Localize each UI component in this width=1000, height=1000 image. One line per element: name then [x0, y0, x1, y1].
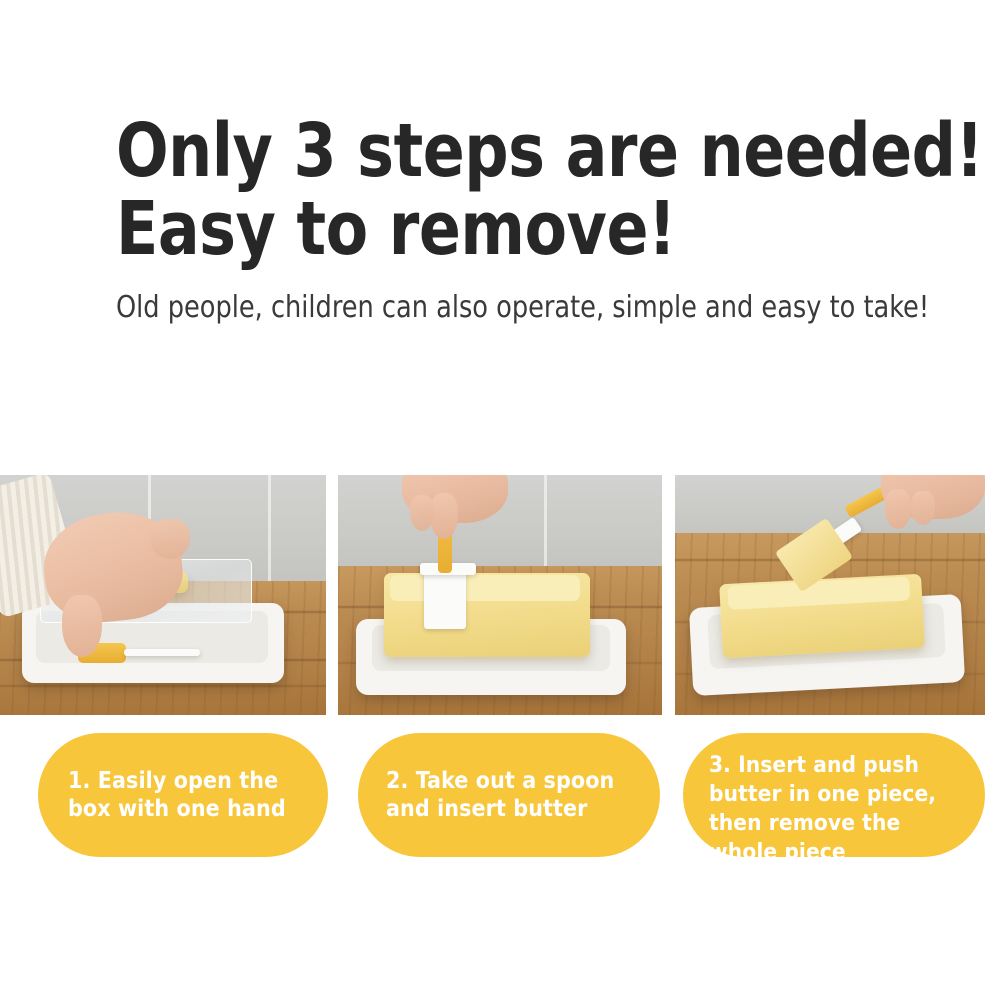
finger: [911, 491, 935, 525]
butter-block: [384, 573, 590, 657]
thumb: [62, 595, 102, 657]
caption-text-step-1: 1. Easily open the box with one hand: [68, 767, 298, 823]
photo-strip: [0, 475, 1000, 715]
caption-pill-step-1: 1. Easily open the box with one hand: [38, 733, 328, 857]
scene-butter-cutter-insert: [338, 475, 662, 715]
cutter-blade: [424, 567, 466, 629]
butter-top-face: [390, 575, 580, 601]
knife-blade: [124, 649, 200, 656]
wood-grain: [0, 685, 326, 687]
headline-block: Only 3 steps are needed! Easy to remove!: [116, 112, 976, 268]
caption-pill-step-3: 3. Insert and push butter in one piece, …: [683, 733, 985, 857]
infographic-page: Only 3 steps are needed! Easy to remove!…: [0, 0, 1000, 1000]
scene-butter-slice-remove: [675, 475, 985, 715]
finger: [885, 489, 911, 529]
headline-line-1: Only 3 steps are needed!: [116, 112, 916, 190]
caption-pill-row: 1. Easily open the box with one hand 2. …: [0, 733, 1000, 859]
headline-line-2: Easy to remove!: [116, 190, 916, 268]
scene-butter-dish-open-lid: [0, 475, 326, 715]
finger: [410, 495, 434, 531]
caption-text-step-2: 2. Take out a spoon and insert butter: [386, 767, 632, 823]
finger: [150, 519, 190, 559]
butter-block: [719, 574, 925, 658]
step-photo-3: [675, 475, 985, 715]
finger: [430, 493, 458, 539]
step-photo-2: [338, 475, 662, 715]
caption-text-step-3: 3. Insert and push butter in one piece, …: [709, 751, 959, 867]
step-photo-1: [0, 475, 326, 715]
caption-pill-step-2: 2. Take out a spoon and insert butter: [358, 733, 660, 857]
subtitle-text: Old people, children can also operate, s…: [116, 290, 929, 326]
